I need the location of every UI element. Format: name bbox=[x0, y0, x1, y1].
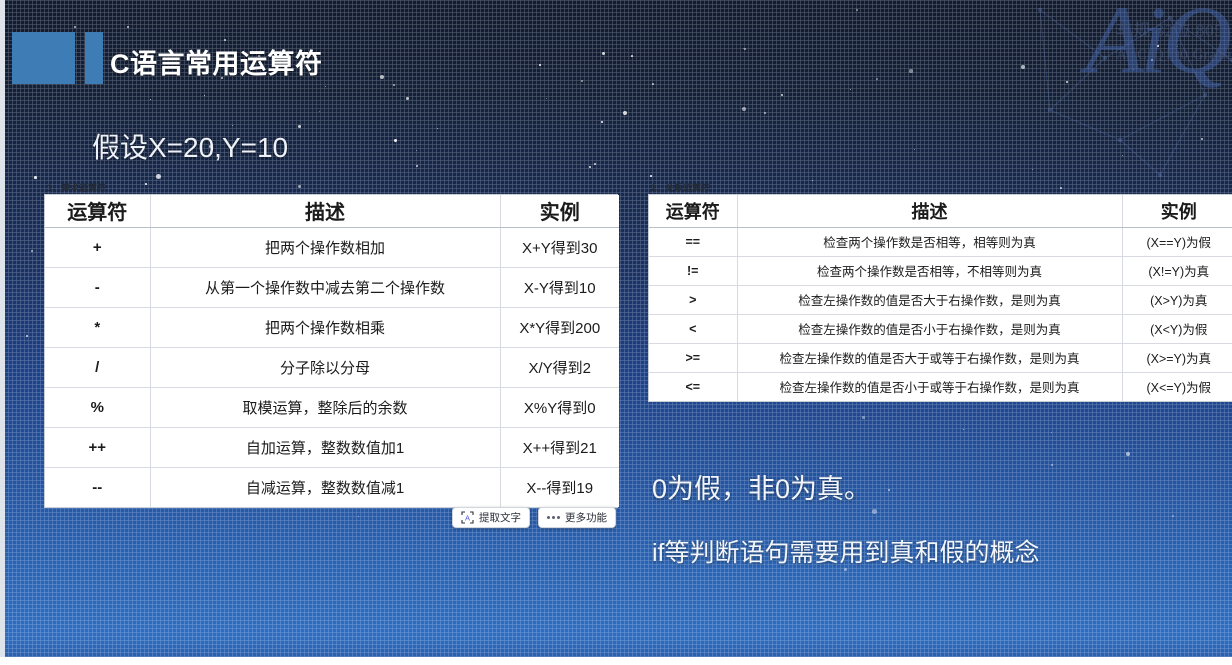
arithmetic-table: 运算符 描述 实例 +把两个操作数相加X+Y得到30-从第一个操作数中减去第二个… bbox=[45, 195, 619, 507]
cell-description: 检查左操作数的值是否大于或等于右操作数，是则为真 bbox=[737, 343, 1122, 372]
star bbox=[1151, 59, 1153, 61]
star bbox=[156, 174, 161, 179]
table-row: >=检查左操作数的值是否大于或等于右操作数，是则为真(X>=Y)为真 bbox=[649, 343, 1232, 372]
star bbox=[856, 9, 858, 11]
cell-example: (X>Y)为真 bbox=[1122, 285, 1232, 314]
cell-example: X/Y得到2 bbox=[500, 347, 619, 387]
star bbox=[872, 509, 877, 514]
star bbox=[204, 95, 205, 96]
title-block-narrow bbox=[85, 32, 103, 84]
star bbox=[862, 416, 865, 419]
table-row: <=检查左操作数的值是否小于或等于右操作数，是则为真(X<=Y)为假 bbox=[649, 372, 1232, 401]
star bbox=[1177, 46, 1178, 47]
star bbox=[1032, 169, 1033, 170]
star bbox=[589, 166, 591, 168]
star bbox=[298, 185, 301, 188]
star bbox=[876, 78, 878, 80]
cell-operator: - bbox=[45, 267, 150, 307]
arithmetic-operators-table: 1、算术运算符 运算符 描述 实例 +把两个操作数相加X+Y得到30-从第一个操… bbox=[44, 194, 618, 508]
note-line-2: if等判断语句需要用到真和假的概念 bbox=[652, 533, 1040, 569]
table-row: *把两个操作数相乘X*Y得到200 bbox=[45, 307, 619, 347]
extract-text-label: 提取文字 bbox=[479, 510, 521, 525]
star bbox=[546, 98, 547, 99]
watermark-line2: AEC-Q100 Grade bbox=[1116, 47, 1232, 63]
star bbox=[781, 94, 783, 96]
cell-example: X%Y得到0 bbox=[500, 387, 619, 427]
cell-description: 取模运算，整除后的余数 bbox=[150, 387, 500, 427]
star bbox=[742, 107, 746, 111]
cell-operator: + bbox=[45, 227, 150, 267]
cell-example: (X==Y)为假 bbox=[1122, 227, 1232, 256]
star bbox=[963, 429, 964, 430]
left-gutter-strip bbox=[0, 0, 5, 657]
cell-operator: ++ bbox=[45, 427, 150, 467]
cell-operator: -- bbox=[45, 467, 150, 507]
cell-description: 把两个操作数相乘 bbox=[150, 307, 500, 347]
cell-operator: <= bbox=[649, 372, 737, 401]
star bbox=[26, 335, 28, 337]
star bbox=[909, 69, 913, 73]
cell-example: X--得到19 bbox=[500, 467, 619, 507]
star bbox=[31, 250, 33, 252]
star bbox=[325, 86, 326, 87]
star bbox=[1060, 187, 1062, 189]
cell-description: 检查两个操作数是否相等，不相等则为真 bbox=[737, 256, 1122, 285]
star bbox=[764, 112, 766, 114]
relational-operators-table: 2、关系运算符 运算符 描述 实例 ==检查两个操作数是否相等，相等则为真(X=… bbox=[648, 194, 1232, 402]
star bbox=[416, 165, 418, 167]
table-row: %取模运算，整除后的余数X%Y得到0 bbox=[45, 387, 619, 427]
bottom-white-strip bbox=[0, 657, 1232, 665]
cell-description: 检查左操作数的值是否小于或等于右操作数，是则为真 bbox=[737, 372, 1122, 401]
table-row: +把两个操作数相加X+Y得到30 bbox=[45, 227, 619, 267]
star bbox=[393, 84, 395, 86]
star bbox=[539, 64, 541, 66]
star bbox=[1051, 464, 1053, 466]
star bbox=[1157, 45, 1159, 47]
cell-example: (X<Y)为假 bbox=[1122, 314, 1232, 343]
cell-description: 检查左操作数的值是否小于右操作数，是则为真 bbox=[737, 314, 1122, 343]
more-features-button[interactable]: 更多功能 bbox=[538, 507, 616, 528]
more-dots-icon bbox=[547, 516, 560, 519]
relational-table-caption: 2、关系运算符 bbox=[651, 181, 710, 194]
col-header-description: 描述 bbox=[737, 195, 1122, 227]
cell-description: 检查左操作数的值是否大于右操作数，是则为真 bbox=[737, 285, 1122, 314]
star bbox=[1021, 65, 1025, 69]
star bbox=[1172, 515, 1174, 517]
table-row: !=检查两个操作数是否相等，不相等则为真(X!=Y)为真 bbox=[649, 256, 1232, 285]
star bbox=[1126, 452, 1130, 456]
star bbox=[150, 99, 151, 100]
slide-canvas: AiQ 车规 32位 8051 AEC-Q100 Grade C语言常用运算符 … bbox=[0, 0, 1232, 657]
star bbox=[1133, 69, 1134, 70]
cell-example: X*Y得到200 bbox=[500, 307, 619, 347]
cell-operator: != bbox=[649, 256, 737, 285]
star bbox=[812, 180, 813, 181]
star bbox=[437, 128, 438, 129]
cell-operator: >= bbox=[649, 343, 737, 372]
watermark-logo: AiQ 车规 32位 8051 AEC-Q100 Grade bbox=[1085, 0, 1228, 95]
cell-operator: < bbox=[649, 314, 737, 343]
cell-example: X++得到21 bbox=[500, 427, 619, 467]
star bbox=[34, 176, 37, 179]
cell-example: (X<=Y)为假 bbox=[1122, 372, 1232, 401]
star bbox=[319, 111, 320, 112]
star bbox=[594, 163, 596, 165]
title-block-wide bbox=[12, 32, 75, 84]
star bbox=[416, 150, 417, 151]
star bbox=[1201, 138, 1203, 140]
extract-text-icon: A bbox=[461, 511, 474, 524]
cell-example: X+Y得到30 bbox=[500, 227, 619, 267]
extract-text-button[interactable]: A 提取文字 bbox=[452, 507, 530, 528]
assumption-text: 假设X=20,Y=10 bbox=[92, 126, 288, 166]
star bbox=[145, 183, 147, 185]
star bbox=[380, 75, 384, 79]
more-features-label: 更多功能 bbox=[565, 510, 607, 525]
cell-operator: / bbox=[45, 347, 150, 387]
col-header-operator: 运算符 bbox=[649, 195, 737, 227]
table-row: -从第一个操作数中减去第二个操作数X-Y得到10 bbox=[45, 267, 619, 307]
arithmetic-table-caption: 1、算术运算符 bbox=[47, 181, 106, 194]
star bbox=[652, 83, 654, 85]
star bbox=[850, 89, 851, 90]
cell-description: 分子除以分母 bbox=[150, 347, 500, 387]
table-row: ++自加运算，整数数值加1X++得到21 bbox=[45, 427, 619, 467]
cell-description: 自减运算，整数数值减1 bbox=[150, 467, 500, 507]
star bbox=[631, 55, 633, 57]
table-row: /分子除以分母X/Y得到2 bbox=[45, 347, 619, 387]
star bbox=[298, 125, 301, 128]
star bbox=[602, 52, 605, 55]
cell-description: 从第一个操作数中减去第二个操作数 bbox=[150, 267, 500, 307]
page-title: C语言常用运算符 bbox=[110, 42, 323, 81]
star bbox=[623, 111, 627, 115]
note-line-1: 0为假，非0为真。 bbox=[652, 467, 871, 506]
star bbox=[1122, 155, 1123, 156]
svg-text:A: A bbox=[465, 514, 470, 523]
col-header-operator: 运算符 bbox=[45, 195, 150, 227]
cell-example: (X>=Y)为真 bbox=[1122, 343, 1232, 372]
col-header-example: 实例 bbox=[1122, 195, 1232, 227]
table-row: <检查左操作数的值是否小于右操作数，是则为真(X<Y)为假 bbox=[649, 314, 1232, 343]
table-header-row: 运算符 描述 实例 bbox=[45, 195, 619, 227]
star bbox=[1051, 432, 1052, 433]
star bbox=[1066, 81, 1068, 83]
table-header-row: 运算符 描述 实例 bbox=[649, 195, 1232, 227]
relational-table: 运算符 描述 实例 ==检查两个操作数是否相等，相等则为真(X==Y)为假!=检… bbox=[649, 195, 1232, 401]
star bbox=[650, 175, 652, 177]
watermark-subtitle: 车规 32位 8051 AEC-Q100 Grade bbox=[1116, 20, 1232, 66]
cell-operator: == bbox=[649, 227, 737, 256]
star bbox=[127, 26, 129, 28]
star bbox=[224, 39, 226, 41]
ocr-toolbar: A 提取文字 更多功能 bbox=[452, 507, 616, 528]
table-row: --自减运算，整数数值减1X--得到19 bbox=[45, 467, 619, 507]
star bbox=[744, 48, 746, 50]
arithmetic-table-body: +把两个操作数相加X+Y得到30-从第一个操作数中减去第二个操作数X-Y得到10… bbox=[45, 227, 619, 507]
table-row: ==检查两个操作数是否相等，相等则为真(X==Y)为假 bbox=[649, 227, 1232, 256]
watermark-line1: 车规 32位 8051 bbox=[1116, 21, 1232, 40]
cell-operator: % bbox=[45, 387, 150, 427]
star bbox=[394, 139, 397, 142]
star bbox=[358, 516, 359, 517]
relational-table-body: ==检查两个操作数是否相等，相等则为真(X==Y)为假!=检查两个操作数是否相等… bbox=[649, 227, 1232, 401]
star bbox=[914, 149, 915, 150]
star bbox=[406, 97, 409, 100]
cell-operator: > bbox=[649, 285, 737, 314]
cell-description: 检查两个操作数是否相等，相等则为真 bbox=[737, 227, 1122, 256]
table-row: >检查左操作数的值是否大于右操作数，是则为真(X>Y)为真 bbox=[649, 285, 1232, 314]
star bbox=[888, 489, 890, 491]
col-header-example: 实例 bbox=[500, 195, 619, 227]
cell-description: 自加运算，整数数值加1 bbox=[150, 427, 500, 467]
cell-description: 把两个操作数相加 bbox=[150, 227, 500, 267]
cell-example: (X!=Y)为真 bbox=[1122, 256, 1232, 285]
star bbox=[74, 26, 76, 28]
col-header-description: 描述 bbox=[150, 195, 500, 227]
cell-example: X-Y得到10 bbox=[500, 267, 619, 307]
star bbox=[601, 121, 603, 123]
star bbox=[581, 80, 583, 82]
cell-operator: * bbox=[45, 307, 150, 347]
